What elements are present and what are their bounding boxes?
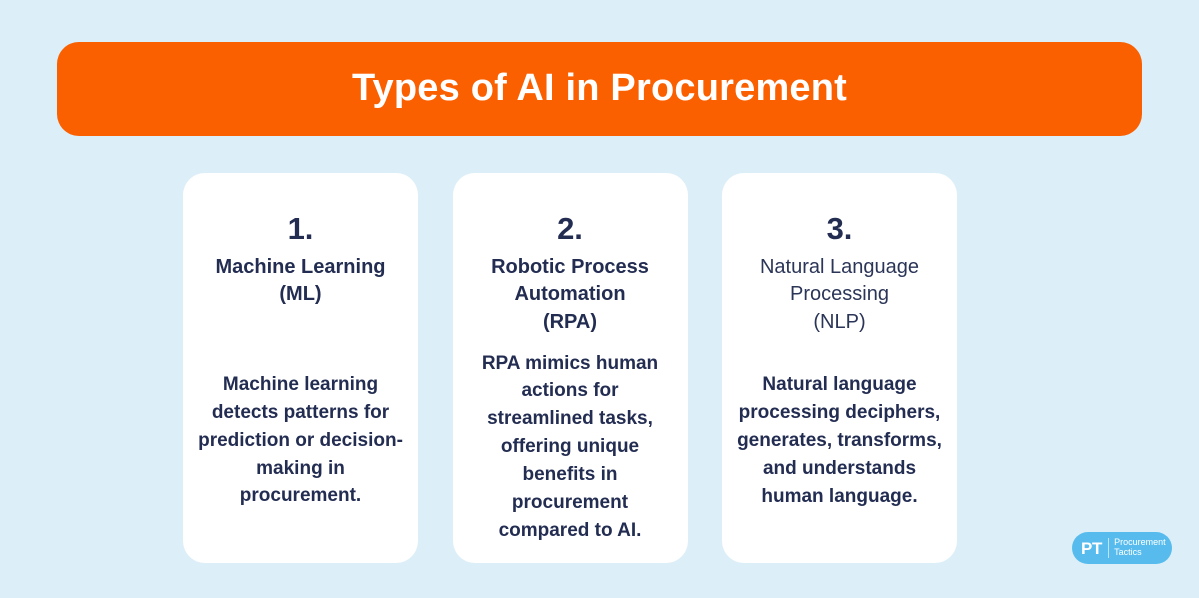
card-heading-line: Robotic Process	[491, 254, 649, 281]
logo-monogram: PT	[1081, 540, 1102, 557]
header-banner: Types of AI in Procurement	[57, 42, 1142, 136]
card-heading-line: (RPA)	[491, 309, 649, 336]
card-machine-learning: 1. Machine Learning (ML) Machine learnin…	[183, 173, 418, 563]
card-heading: Natural Language Processing (NLP)	[760, 254, 919, 336]
card-heading-line: (NLP)	[760, 309, 919, 336]
card-heading-line: Processing	[760, 281, 919, 308]
procurement-tactics-logo: PT Procurement Tactics	[1072, 532, 1172, 564]
logo-word-line: Tactics	[1114, 548, 1166, 558]
logo-wordmark: Procurement Tactics	[1114, 538, 1166, 557]
card-number: 3.	[827, 213, 853, 244]
card-heading: Robotic Process Automation (RPA)	[491, 254, 649, 336]
cards-row: 1. Machine Learning (ML) Machine learnin…	[183, 173, 957, 563]
card-heading-line: Automation	[491, 281, 649, 308]
card-number: 2.	[557, 213, 583, 244]
page-title: Types of AI in Procurement	[352, 68, 847, 110]
card-heading-line: Machine Learning	[215, 254, 385, 281]
card-heading: Machine Learning (ML)	[215, 254, 385, 309]
card-heading-line: Natural Language	[760, 254, 919, 281]
card-body-text: Machine learning detects patterns for pr…	[197, 371, 404, 511]
card-body-text: RPA mimics human actions for streamlined…	[467, 350, 674, 545]
infographic-root: Types of AI in Procurement 1. Machine Le…	[0, 0, 1199, 598]
card-natural-language-processing: 3. Natural Language Processing (NLP) Nat…	[722, 173, 957, 563]
card-number: 1.	[288, 213, 314, 244]
card-heading-line: (ML)	[215, 281, 385, 308]
card-robotic-process-automation: 2. Robotic Process Automation (RPA) RPA …	[453, 173, 688, 563]
logo-divider	[1108, 538, 1109, 558]
card-body-text: Natural language processing deciphers, g…	[736, 371, 943, 511]
